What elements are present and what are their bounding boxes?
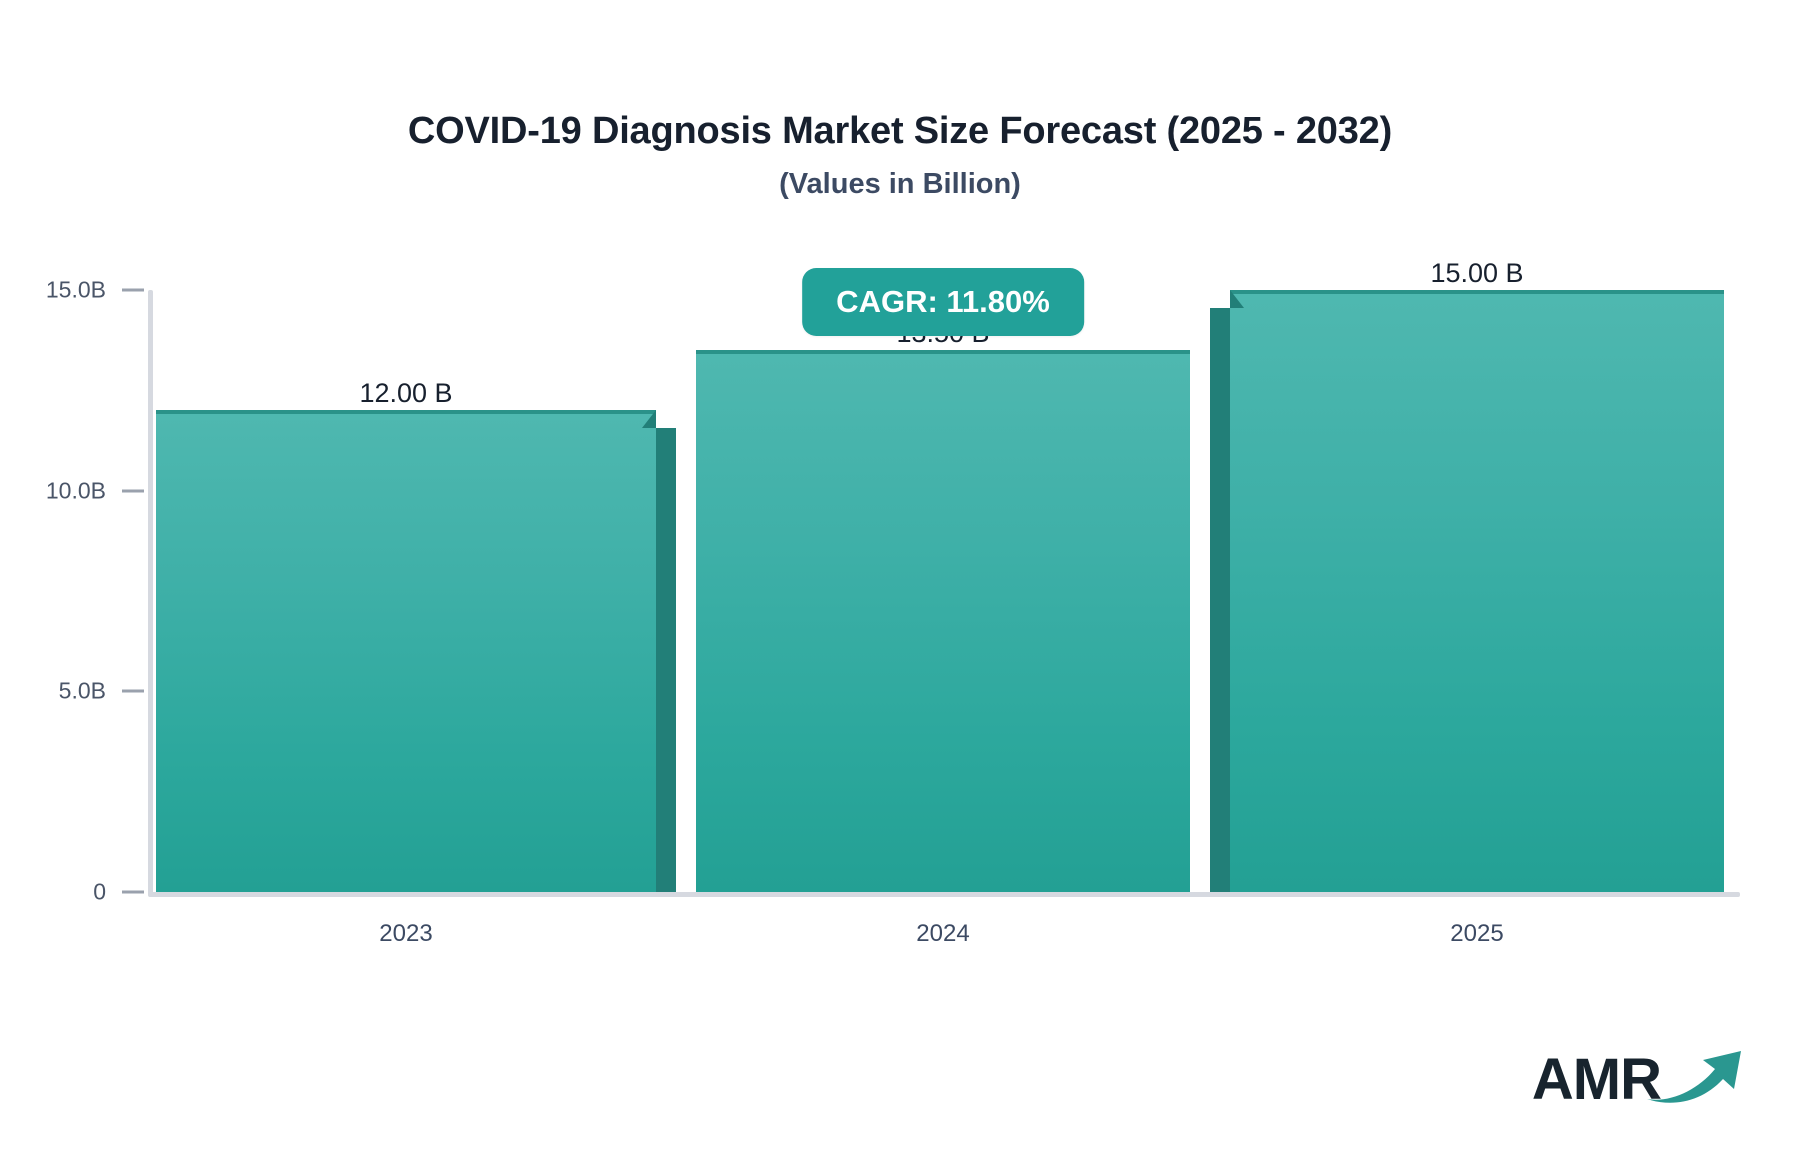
plot-area: 15.0B 10.0B 5.0B 0 12.00 B 13.50 B xyxy=(148,290,1740,896)
cagr-badge[interactable]: CAGR: 11.80% xyxy=(802,268,1084,336)
bar-face-2023 xyxy=(156,410,656,892)
bar-top-edge-2023 xyxy=(156,410,656,414)
y-tick-dash-icon xyxy=(122,690,144,693)
bar-value-label-2023: 12.00 B xyxy=(359,378,452,409)
x-axis-tick-label-2023: 2023 xyxy=(379,920,432,948)
y-axis-tick-15: 15.0B xyxy=(0,277,144,304)
chart-subtitle: (Values in Billion) xyxy=(0,168,1800,201)
y-axis-tick-label-10: 10.0B xyxy=(46,477,106,503)
x-axis-tick-label-2025: 2025 xyxy=(1450,920,1503,948)
bar-value-label-2025: 15.00 B xyxy=(1430,258,1523,289)
amr-logo: AMR xyxy=(1532,1041,1748,1118)
x-axis-line xyxy=(148,892,1740,897)
y-axis-tick-10: 10.0B xyxy=(0,477,144,504)
y-axis-tick-label-15: 15.0B xyxy=(46,277,106,303)
chart-title: COVID-19 Diagnosis Market Size Forecast … xyxy=(0,110,1800,153)
y-tick-dash-icon xyxy=(122,890,144,893)
y-tick-dash-icon xyxy=(122,489,144,492)
bar-side-2025 xyxy=(1210,308,1230,892)
y-axis-tick-5: 5.0B xyxy=(0,678,144,705)
bar-2025[interactable] xyxy=(1230,290,1724,892)
x-axis-tick-label-2024: 2024 xyxy=(916,920,969,948)
logo-text: AMR xyxy=(1532,1051,1661,1109)
bar-2023[interactable] xyxy=(156,410,656,892)
trending-up-arrow-icon xyxy=(1643,1041,1748,1112)
bar-top-edge-2024 xyxy=(696,350,1190,354)
chart-canvas: COVID-19 Diagnosis Market Size Forecast … xyxy=(0,0,1800,1156)
bar-top-edge-2025 xyxy=(1230,290,1724,294)
y-axis-line xyxy=(148,290,153,896)
bar-face-2024 xyxy=(696,350,1190,892)
bar-2024[interactable] xyxy=(696,350,1190,892)
y-tick-dash-icon xyxy=(122,288,144,291)
y-axis-tick-0: 0 xyxy=(0,879,144,906)
bar-side-2023 xyxy=(656,428,676,892)
bar-face-2025 xyxy=(1230,290,1724,892)
y-axis-tick-label-5: 5.0B xyxy=(59,678,106,704)
y-axis-tick-label-0: 0 xyxy=(93,879,106,905)
